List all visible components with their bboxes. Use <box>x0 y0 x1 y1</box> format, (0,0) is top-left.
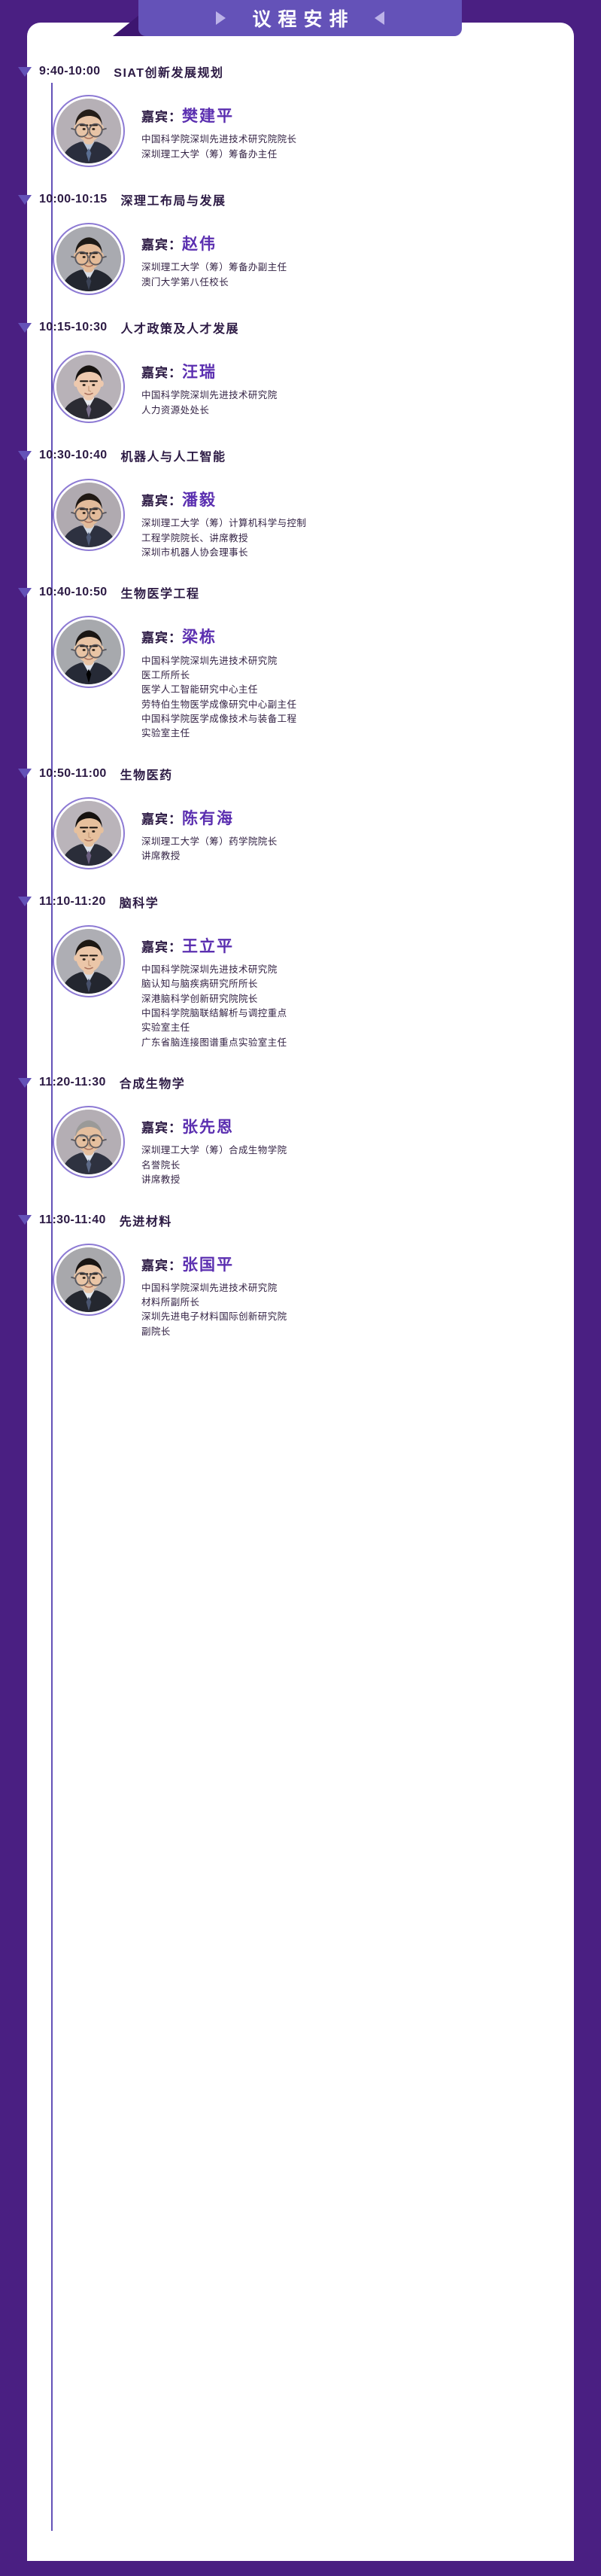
speaker-info: 嘉宾：张先恩 深圳理工大学（筹）合成生物学院名誉院长讲席教授 <box>141 1106 287 1187</box>
speaker-bio-line: 中国科学院深圳先进技术研究院 <box>141 654 296 668</box>
session-topic: 脑科学 <box>120 893 159 911</box>
guest-label: 嘉宾： <box>141 631 182 645</box>
page-title: 议程安排 <box>245 5 354 32</box>
session-header: 11:10-11:20 脑科学 <box>0 889 547 915</box>
speaker-info: 嘉宾：赵伟 深圳理工大学（筹）筹备办副主任澳门大学第八任校长 <box>141 223 287 290</box>
speaker-block: 嘉宾：张国平 中国科学院深圳先进技术研究院材料所副所长深圳先进电子材料国际创新研… <box>0 1244 547 1340</box>
session-topic: 深理工布局与发展 <box>120 190 226 209</box>
speaker-bio: 中国科学院深圳先进技术研究院医工所所长医学人工智能研究中心主任劳特伯生物医学成像… <box>141 654 296 741</box>
session-header: 10:30-10:40 机器人与人工智能 <box>0 443 547 468</box>
speaker-name-line: 嘉宾：王立平 <box>141 937 287 956</box>
session-topic: 合成生物学 <box>120 1073 186 1092</box>
speaker-bio-line: 深圳理工大学（筹）计算机科学与控制 <box>141 516 306 531</box>
session-topic: SIAT创新发展规划 <box>114 62 223 81</box>
speaker-bio: 中国科学院深圳先进技术研究院脑认知与脑疾病研究所所长深港脑科学创新研究院院长中国… <box>141 963 287 1050</box>
speaker-bio-line: 澳门大学第八任校长 <box>141 276 287 290</box>
guest-label: 嘉宾： <box>141 1121 182 1135</box>
agenda-session: 11:20-11:30 合成生物学 <box>0 1070 547 1187</box>
speaker-bio: 深圳理工大学（筹）药学院院长讲席教授 <box>141 835 278 864</box>
avatar <box>53 95 125 167</box>
speaker-info: 嘉宾：潘毅 深圳理工大学（筹）计算机科学与控制工程学院院长、讲席教授深圳市机器人… <box>141 479 306 560</box>
guest-label: 嘉宾： <box>141 812 182 827</box>
session-time: 11:30-11:40 <box>39 1213 106 1227</box>
session-header: 11:20-11:30 合成生物学 <box>0 1070 547 1095</box>
speaker-bio-line: 副院长 <box>141 1325 287 1339</box>
speaker-bio-line: 材料所副所长 <box>141 1296 287 1310</box>
speaker-bio-line: 人力资源处处长 <box>141 403 278 418</box>
speaker-name: 潘毅 <box>182 492 217 509</box>
speaker-bio-line: 深港脑科学创新研究院院长 <box>141 992 287 1006</box>
speaker-bio-line: 深圳理工大学（筹）筹备办副主任 <box>141 260 287 275</box>
speaker-bio-line: 工程学院院长、讲席教授 <box>141 531 306 546</box>
guest-label: 嘉宾： <box>141 1259 182 1273</box>
session-time: 11:10-11:20 <box>39 895 106 909</box>
speaker-bio-line: 讲席教授 <box>141 849 278 863</box>
timeline-marker-icon <box>18 323 32 333</box>
timeline-marker-icon <box>18 588 32 598</box>
speaker-block: 嘉宾：王立平 中国科学院深圳先进技术研究院脑认知与脑疾病研究所所长深港脑科学创新… <box>0 925 547 1050</box>
speaker-info: 嘉宾：陈有海 深圳理工大学（筹）药学院院长讲席教授 <box>141 797 278 864</box>
speaker-block: 嘉宾：陈有海 深圳理工大学（筹）药学院院长讲席教授 <box>0 797 547 869</box>
avatar <box>53 223 125 295</box>
agenda-session: 10:40-10:50 生物医学工程 <box>0 580 547 741</box>
speaker-bio-line: 脑认知与脑疾病研究所所长 <box>141 977 287 991</box>
session-topic: 生物医学工程 <box>120 583 199 601</box>
timeline-marker-icon <box>18 67 32 77</box>
speaker-bio: 中国科学院深圳先进技术研究院院长深圳理工大学（筹）筹备办主任 <box>141 132 296 162</box>
avatar-photo <box>56 1247 121 1312</box>
avatar <box>53 797 125 869</box>
speaker-bio: 深圳理工大学（筹）合成生物学院名誉院长讲席教授 <box>141 1143 287 1187</box>
speaker-name: 梁栋 <box>182 629 217 646</box>
session-time: 11:20-11:30 <box>39 1076 106 1089</box>
session-header: 11:30-11:40 先进材料 <box>0 1207 547 1233</box>
speaker-bio-line: 广东省脑连接图谱重点实验室主任 <box>141 1036 287 1050</box>
timeline-marker-icon <box>18 451 32 461</box>
agenda-session: 10:30-10:40 机器人与人工智能 <box>0 443 547 560</box>
agenda-session: 10:50-11:00 生物医药 <box>0 761 547 869</box>
speaker-name-line: 嘉宾：张先恩 <box>141 1118 287 1137</box>
speaker-bio-line: 深圳理工大学（筹）药学院院长 <box>141 835 278 849</box>
speaker-block: 嘉宾：汪瑞 中国科学院深圳先进技术研究院人力资源处处长 <box>0 351 547 423</box>
session-header: 9:40-10:00 SIAT创新发展规划 <box>0 59 547 84</box>
speaker-block: 嘉宾：张先恩 深圳理工大学（筹）合成生物学院名誉院长讲席教授 <box>0 1106 547 1187</box>
session-topic: 先进材料 <box>120 1211 172 1229</box>
avatar-photo <box>56 1110 121 1174</box>
speaker-name-line: 嘉宾：张国平 <box>141 1256 287 1274</box>
speaker-name: 赵伟 <box>182 236 217 253</box>
session-time: 10:15-10:30 <box>39 321 107 334</box>
speaker-name: 汪瑞 <box>182 364 217 381</box>
avatar <box>53 1106 125 1178</box>
speaker-bio-line: 实验室主任 <box>141 726 296 741</box>
speaker-info: 嘉宾：梁栋 中国科学院深圳先进技术研究院医工所所长医学人工智能研究中心主任劳特伯… <box>141 616 296 741</box>
session-topic: 人才政策及人才发展 <box>120 318 239 336</box>
speaker-name: 张先恩 <box>182 1119 234 1136</box>
guest-label: 嘉宾： <box>141 238 182 252</box>
triangle-left-icon <box>375 11 384 25</box>
speaker-bio-line: 中国科学院深圳先进技术研究院 <box>141 1281 287 1296</box>
avatar <box>53 1244 125 1316</box>
speaker-name: 陈有海 <box>182 810 234 827</box>
speaker-bio-line: 中国科学院深圳先进技术研究院 <box>141 388 278 403</box>
agenda-list: 9:40-10:00 SIAT创新发展规划 <box>0 59 547 1339</box>
speaker-name-line: 嘉宾：汪瑞 <box>141 363 278 382</box>
page-title-tab: 议程安排 <box>138 0 462 36</box>
speaker-bio-line: 医工所所长 <box>141 668 296 683</box>
speaker-bio-line: 深圳理工大学（筹）合成生物学院 <box>141 1143 287 1158</box>
speaker-bio-line: 深圳理工大学（筹）筹备办主任 <box>141 148 296 162</box>
speaker-bio-line: 医学人工智能研究中心主任 <box>141 683 296 697</box>
timeline-marker-icon <box>18 1078 32 1088</box>
guest-label: 嘉宾： <box>141 494 182 508</box>
avatar <box>53 479 125 551</box>
speaker-info: 嘉宾：张国平 中国科学院深圳先进技术研究院材料所副所长深圳先进电子材料国际创新研… <box>141 1244 287 1340</box>
speaker-block: 嘉宾：樊建平 中国科学院深圳先进技术研究院院长深圳理工大学（筹）筹备办主任 <box>0 95 547 167</box>
avatar-photo <box>56 355 121 419</box>
speaker-name-line: 嘉宾：陈有海 <box>141 809 278 828</box>
speaker-bio-line: 中国科学院深圳先进技术研究院院长 <box>141 132 296 147</box>
agenda-poster: 议程安排 9:40-10:00 SIAT创新发展规划 <box>0 0 601 2576</box>
guest-label: 嘉宾： <box>141 940 182 955</box>
avatar-photo <box>56 483 121 547</box>
triangle-right-icon <box>216 11 226 25</box>
speaker-bio-line: 深圳市机器人协会理事长 <box>141 546 306 560</box>
session-header: 10:40-10:50 生物医学工程 <box>0 580 547 605</box>
speaker-bio: 中国科学院深圳先进技术研究院人力资源处处长 <box>141 388 278 418</box>
session-time: 10:50-11:00 <box>39 767 107 781</box>
speaker-block: 嘉宾：梁栋 中国科学院深圳先进技术研究院医工所所长医学人工智能研究中心主任劳特伯… <box>0 616 547 741</box>
avatar <box>53 351 125 423</box>
guest-label: 嘉宾： <box>141 366 182 380</box>
speaker-name-line: 嘉宾：梁栋 <box>141 628 296 647</box>
avatar-photo <box>56 227 121 291</box>
speaker-bio-line: 劳特伯生物医学成像研究中心副主任 <box>141 698 296 712</box>
speaker-bio: 中国科学院深圳先进技术研究院材料所副所长深圳先进电子材料国际创新研究院副院长 <box>141 1281 287 1340</box>
avatar-photo <box>56 99 121 163</box>
speaker-info: 嘉宾：汪瑞 中国科学院深圳先进技术研究院人力资源处处长 <box>141 351 278 418</box>
speaker-bio-line: 中国科学院医学成像技术与装备工程 <box>141 712 296 726</box>
avatar-photo <box>56 620 121 684</box>
speaker-block: 嘉宾：潘毅 深圳理工大学（筹）计算机科学与控制工程学院院长、讲席教授深圳市机器人… <box>0 479 547 560</box>
speaker-name-line: 嘉宾：潘毅 <box>141 491 306 510</box>
agenda-session: 10:15-10:30 人才政策及人才发展 <box>0 315 547 423</box>
speaker-bio-line: 实验室主任 <box>141 1021 287 1035</box>
timeline-marker-icon <box>18 195 32 205</box>
speaker-info: 嘉宾：王立平 中国科学院深圳先进技术研究院脑认知与脑疾病研究所所长深港脑科学创新… <box>141 925 287 1050</box>
timeline-marker-icon <box>18 1215 32 1225</box>
agenda-session: 9:40-10:00 SIAT创新发展规划 <box>0 59 547 167</box>
session-time: 9:40-10:00 <box>39 65 100 78</box>
speaker-bio-line: 深圳先进电子材料国际创新研究院 <box>141 1310 287 1324</box>
agenda-session: 10:00-10:15 深理工布局与发展 <box>0 187 547 295</box>
speaker-bio-line: 名誉院长 <box>141 1159 287 1173</box>
timeline-marker-icon <box>18 897 32 906</box>
speaker-bio: 深圳理工大学（筹）筹备办副主任澳门大学第八任校长 <box>141 260 287 290</box>
session-topic: 生物医药 <box>120 765 173 783</box>
speaker-bio-line: 中国科学院深圳先进技术研究院 <box>141 963 287 977</box>
session-time: 10:00-10:15 <box>39 193 107 206</box>
timeline-marker-icon <box>18 769 32 778</box>
speaker-info: 嘉宾：樊建平 中国科学院深圳先进技术研究院院长深圳理工大学（筹）筹备办主任 <box>141 95 296 162</box>
speaker-bio-line: 讲席教授 <box>141 1173 287 1187</box>
session-topic: 机器人与人工智能 <box>120 446 226 464</box>
agenda-session: 11:10-11:20 脑科学 <box>0 889 547 1050</box>
speaker-name: 王立平 <box>182 938 234 955</box>
speaker-name: 张国平 <box>182 1256 234 1274</box>
speaker-bio: 深圳理工大学（筹）计算机科学与控制工程学院院长、讲席教授深圳市机器人协会理事长 <box>141 516 306 560</box>
avatar-photo <box>56 929 121 994</box>
avatar <box>53 925 125 997</box>
session-header: 10:15-10:30 人才政策及人才发展 <box>0 315 547 340</box>
avatar-photo <box>56 801 121 866</box>
speaker-block: 嘉宾：赵伟 深圳理工大学（筹）筹备办副主任澳门大学第八任校长 <box>0 223 547 295</box>
speaker-bio-line: 中国科学院脑联结解析与调控重点 <box>141 1006 287 1021</box>
speaker-name-line: 嘉宾：赵伟 <box>141 235 287 254</box>
session-header: 10:00-10:15 深理工布局与发展 <box>0 187 547 212</box>
agenda-session: 11:30-11:40 先进材料 <box>0 1207 547 1340</box>
session-header: 10:50-11:00 生物医药 <box>0 761 547 787</box>
session-time: 10:30-10:40 <box>39 449 107 462</box>
guest-label: 嘉宾： <box>141 110 182 124</box>
avatar <box>53 616 125 688</box>
speaker-name: 樊建平 <box>182 108 234 125</box>
speaker-name-line: 嘉宾：樊建平 <box>141 107 296 126</box>
session-time: 10:40-10:50 <box>39 586 107 599</box>
